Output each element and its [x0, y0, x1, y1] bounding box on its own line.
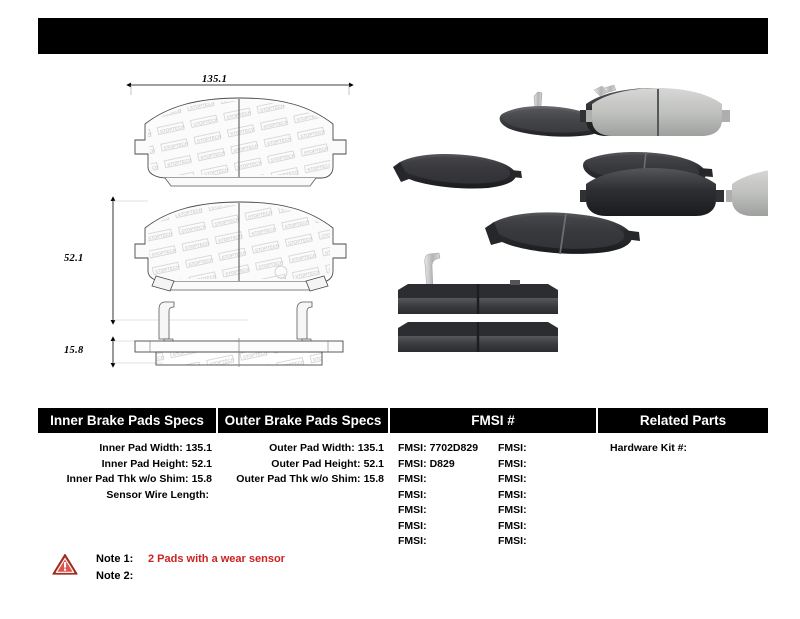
outer-pad-thickness-label: Outer Pad Thk w/o Shim:	[236, 473, 360, 485]
photo-edge-view-set	[398, 253, 558, 352]
pad-front-view-2-with-sensor	[135, 202, 346, 291]
note-1-row: Note 1:2 Pads with a wear sensor	[96, 551, 285, 568]
fmsi-label: FMSI:	[398, 504, 427, 516]
part-number: 309.08290	[52, 27, 128, 45]
sensor-clip-left	[159, 302, 174, 344]
fmsi-value	[527, 442, 530, 454]
technical-drawing-panel: STOPTECH	[38, 62, 398, 392]
fmsi-label: FMSI:	[498, 504, 527, 516]
fmsi-value	[427, 504, 430, 516]
spec-row: Outer Pad Height:52.1	[218, 457, 390, 473]
inner-pad-width-label: Inner Pad Width:	[99, 442, 182, 454]
header-outer-brake-pads-specs: Outer Brake Pads Specs	[218, 408, 390, 433]
dimension-width-label: 135.1	[202, 74, 227, 85]
fmsi-row: FMSI:	[398, 472, 498, 488]
note-rows: Note 1:2 Pads with a wear sensor Note 2:	[96, 551, 285, 585]
fmsi-label: FMSI:	[398, 489, 427, 501]
photo-top-view-set	[580, 85, 768, 216]
fmsi-column-left: FMSI:7702D829 FMSI:D829 FMSI: FMSI: FMSI…	[398, 441, 498, 550]
fmsi-value	[527, 458, 530, 470]
product-type: Brake Pad	[679, 27, 754, 45]
spec-table-header-row: Inner Brake Pads Specs Outer Brake Pads …	[38, 408, 768, 433]
pad-light-bottom-right	[726, 168, 768, 216]
inner-pad-thickness-label: Inner Pad Thk w/o Shim:	[67, 473, 189, 485]
fmsi-value	[527, 489, 530, 501]
sensor-clip-right	[297, 302, 312, 344]
fmsi-row: FMSI:	[398, 519, 498, 535]
inner-pad-thickness-value: 15.8	[189, 473, 212, 485]
fmsi-label: FMSI:	[498, 489, 527, 501]
spec-row: Sensor Wire Length:	[38, 488, 218, 504]
outer-pad-height-value: 52.1	[361, 458, 384, 470]
outer-pad-height-label: Outer Pad Height:	[271, 458, 360, 470]
outer-pad-width-value: 135.1	[355, 442, 384, 454]
note-2-row: Note 2:	[96, 568, 285, 585]
specifications-table: Inner Brake Pads Specs Outer Brake Pads …	[38, 408, 768, 536]
fmsi-value: 7702D829	[427, 442, 478, 454]
fmsi-label: FMSI:	[498, 520, 527, 532]
spec-row: Inner Pad Thk w/o Shim:15.8	[38, 472, 218, 488]
dimension-height-label: 52.1	[64, 253, 84, 264]
edge-pad-upper	[398, 280, 558, 314]
note-2-value	[142, 570, 148, 582]
fmsi-cell: FMSI:7702D829 FMSI:D829 FMSI: FMSI: FMSI…	[390, 440, 598, 550]
spec-row: Inner Pad Width:135.1	[38, 441, 218, 457]
spec-row: Outer Pad Width:135.1	[218, 441, 390, 457]
fmsi-row: FMSI:	[398, 488, 498, 504]
note-1-label: Note 1:	[96, 551, 142, 568]
edge-pad-lower	[398, 322, 558, 352]
pad-left-perspective	[393, 154, 522, 189]
fmsi-row: FMSI:D829	[398, 457, 498, 473]
fmsi-value	[527, 520, 530, 532]
fmsi-value	[527, 473, 530, 485]
width-dimension-line	[131, 85, 349, 95]
fmsi-row: FMSI:7702D829	[398, 441, 498, 457]
fmsi-value	[427, 520, 430, 532]
note-1-value: 2 Pads with a wear sensor	[142, 553, 285, 565]
hardware-kit-value	[687, 442, 690, 454]
fmsi-row: FMSI:	[498, 441, 598, 457]
pad-front-view-1	[135, 98, 346, 186]
fmsi-row: FMSI:	[398, 534, 498, 550]
fmsi-row: FMSI:	[498, 519, 598, 535]
related-parts-row: Hardware Kit #:	[598, 441, 768, 457]
fmsi-row: FMSI:	[498, 457, 598, 473]
fmsi-label: FMSI:	[498, 535, 527, 547]
dimension-thickness-label: 15.8	[64, 345, 84, 356]
product-photo-panel	[390, 62, 768, 392]
brake-pad-drawings-svg: STOPTECH	[38, 62, 398, 392]
fmsi-label: FMSI:	[498, 442, 527, 454]
fmsi-row: FMSI:	[498, 488, 598, 504]
fmsi-value	[427, 489, 430, 501]
hardware-kit-label: Hardware Kit #:	[610, 442, 687, 454]
pad-front-perspective	[485, 212, 640, 254]
pad-edge-view	[135, 302, 343, 367]
fmsi-value	[427, 535, 430, 547]
spec-row: Inner Pad Height:52.1	[38, 457, 218, 473]
inner-specs-cell: Inner Pad Width:135.1 Inner Pad Height:5…	[38, 440, 218, 550]
spec-table-body-row: Inner Pad Width:135.1 Inner Pad Height:5…	[38, 433, 768, 550]
fmsi-value	[527, 504, 530, 516]
sensor-wire-length-value	[209, 489, 212, 501]
fmsi-column-right: FMSI: FMSI: FMSI: FMSI: FMSI: FMSI: FMSI…	[498, 441, 598, 550]
inner-pad-width-value: 135.1	[183, 442, 212, 454]
fmsi-row: FMSI:	[498, 472, 598, 488]
fmsi-label: FMSI:	[398, 442, 427, 454]
outer-pad-thickness-value: 15.8	[361, 473, 384, 485]
inner-pad-height-label: Inner Pad Height:	[102, 458, 189, 470]
warning-triangle-icon	[52, 553, 78, 581]
fmsi-value	[527, 535, 530, 547]
fmsi-label: FMSI:	[498, 473, 527, 485]
fmsi-label: FMSI:	[398, 473, 427, 485]
fmsi-value	[427, 473, 430, 485]
outer-pad-width-label: Outer Pad Width:	[269, 442, 355, 454]
fmsi-label: FMSI:	[498, 458, 527, 470]
title-bar: 309.08290 Brake Pad	[38, 18, 768, 54]
fmsi-row: FMSI:	[498, 503, 598, 519]
header-related-parts: Related Parts	[598, 408, 768, 433]
header-fmsi-number: FMSI #	[390, 408, 598, 433]
inner-pad-height-value: 52.1	[189, 458, 212, 470]
product-photos-svg	[390, 62, 768, 392]
related-parts-cell: Hardware Kit #:	[598, 440, 768, 550]
notes-section: Note 1:2 Pads with a wear sensor Note 2:	[52, 551, 285, 585]
fmsi-value: D829	[427, 458, 455, 470]
outer-specs-cell: Outer Pad Width:135.1 Outer Pad Height:5…	[218, 440, 390, 550]
note-2-label: Note 2:	[96, 568, 142, 585]
fmsi-label: FMSI:	[398, 458, 427, 470]
sensor-wire-length-label: Sensor Wire Length:	[106, 489, 209, 501]
fmsi-label: FMSI:	[398, 520, 427, 532]
fmsi-row: FMSI:	[498, 534, 598, 550]
header-inner-brake-pads-specs: Inner Brake Pads Specs	[38, 408, 218, 433]
fmsi-row: FMSI:	[398, 503, 498, 519]
fmsi-label: FMSI:	[398, 535, 427, 547]
spec-row: Outer Pad Thk w/o Shim:15.8	[218, 472, 390, 488]
